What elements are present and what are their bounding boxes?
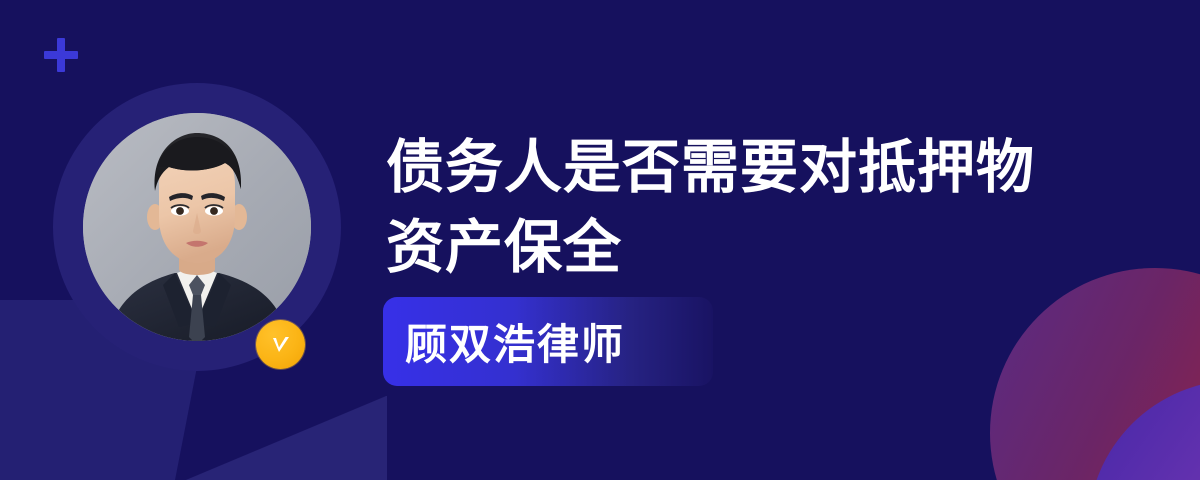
page-title: 债务人是否需要对抵押物 资产保全 — [386, 128, 1076, 288]
decorative-circle-crimson — [990, 268, 1200, 480]
verified-badge — [256, 320, 305, 369]
decorative-polygon-triangle — [182, 396, 387, 480]
lawyer-name-button[interactable]: 顾双浩律师 — [383, 297, 713, 386]
plus-icon — [44, 38, 78, 72]
avatar — [53, 83, 341, 371]
avatar-photo — [83, 113, 311, 341]
decorative-circle-violet — [1088, 380, 1200, 480]
lawyer-profile-banner: 债务人是否需要对抵押物 资产保全 顾双浩律师 — [0, 0, 1200, 480]
